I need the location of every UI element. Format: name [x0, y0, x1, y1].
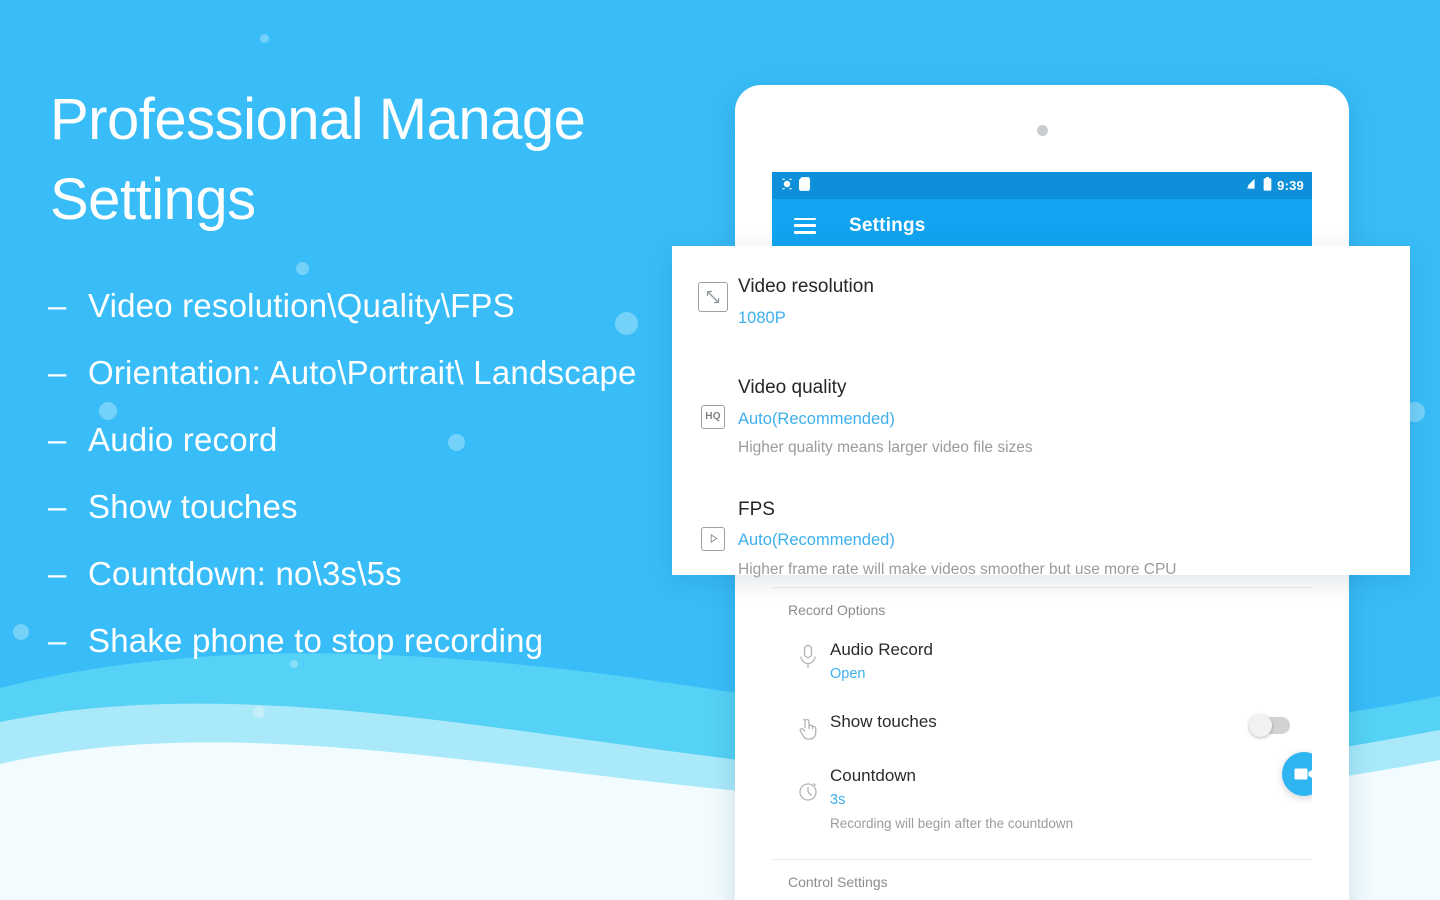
decorative-bubble	[13, 624, 29, 640]
screen-recorder-icon	[780, 177, 794, 194]
hq-icon: HQ	[688, 375, 738, 429]
setting-body: Audio Record Open	[830, 638, 1290, 686]
setting-value: 1080P	[738, 305, 1382, 331]
show-touches-toggle[interactable]	[1252, 717, 1290, 734]
promo-banner: Professional Manage Settings –Video reso…	[0, 0, 1440, 900]
decorative-bubble	[260, 34, 269, 43]
microphone-icon	[786, 638, 830, 670]
setting-title: FPS	[738, 497, 1382, 524]
resolution-icon	[688, 274, 738, 312]
setting-title: Audio Record	[830, 638, 1290, 662]
app-bar: Settings	[772, 199, 1312, 252]
list-item: –Shake phone to stop recording	[48, 607, 728, 674]
list-item-label: Orientation: Auto\Portrait\ Landscape	[88, 354, 637, 391]
sdcard-icon	[799, 177, 810, 194]
touch-hand-icon	[786, 710, 830, 740]
setting-title: Video quality	[738, 375, 1382, 402]
bullet-dash: –	[48, 473, 88, 540]
status-bar-left-icons	[780, 177, 810, 194]
list-item: –Countdown: no\3s\5s	[48, 540, 728, 607]
front-camera-icon	[1037, 125, 1048, 136]
list-item-label: Shake phone to stop recording	[88, 622, 543, 659]
setting-row-fps[interactable]: FPS Auto(Recommended) Higher frame rate …	[672, 491, 1410, 589]
setting-desc: Higher quality means larger video file s…	[738, 436, 1382, 461]
setting-row-audio-record[interactable]: Audio Record Open	[772, 626, 1312, 698]
status-bar: 9:39	[772, 172, 1312, 199]
setting-value: Auto(Recommended)	[738, 406, 1382, 432]
section-label-record-options: Record Options	[772, 588, 1312, 626]
setting-value: 3s	[830, 789, 1290, 812]
signal-off-icon	[1243, 178, 1258, 194]
list-item-label: Countdown: no\3s\5s	[88, 555, 402, 592]
list-item: –Orientation: Auto\Portrait\ Landscape	[48, 339, 728, 406]
decorative-bubble	[253, 706, 265, 718]
setting-body: Countdown 3s Recording will begin after …	[830, 764, 1290, 835]
bullet-dash: –	[48, 406, 88, 473]
feature-list: –Video resolution\Quality\FPS –Orientati…	[48, 272, 728, 674]
section-label-control-settings: Control Settings	[772, 860, 1312, 898]
setting-body: FPS Auto(Recommended) Higher frame rate …	[738, 497, 1382, 583]
setting-row-video-quality[interactable]: HQ Video quality Auto(Recommended) Highe…	[672, 369, 1410, 467]
list-item: –Video resolution\Quality\FPS	[48, 272, 728, 339]
setting-body: Show touches	[830, 710, 1252, 734]
setting-row-show-touches[interactable]: Show touches	[772, 698, 1312, 752]
setting-value: Auto(Recommended)	[738, 527, 1382, 553]
setting-value: Open	[830, 663, 1290, 686]
setting-desc: Higher frame rate will make videos smoot…	[738, 558, 1382, 583]
toggle-knob	[1249, 714, 1272, 737]
resolution-icon-box	[698, 282, 728, 312]
hamburger-icon[interactable]	[794, 218, 816, 234]
status-bar-clock: 9:39	[1277, 178, 1304, 193]
stopwatch-icon	[786, 764, 830, 802]
list-item-label: Audio record	[88, 421, 278, 458]
setting-body: Video quality Auto(Recommended) Higher q…	[738, 375, 1382, 461]
setting-title: Countdown	[830, 764, 1290, 788]
setting-row-countdown[interactable]: Countdown 3s Recording will begin after …	[772, 752, 1312, 847]
fps-play-icon	[688, 497, 738, 551]
status-bar-right-icons: 9:39	[1243, 177, 1304, 194]
bullet-dash: –	[48, 339, 88, 406]
list-item: –Show touches	[48, 473, 728, 540]
setting-title: Video resolution	[738, 274, 1382, 301]
list-item-label: Show touches	[88, 488, 298, 525]
bullet-dash: –	[48, 540, 88, 607]
setting-row-video-resolution[interactable]: Video resolution 1080P	[672, 268, 1410, 337]
fps-play-icon-box	[701, 527, 725, 551]
list-item-label: Video resolution\Quality\FPS	[88, 287, 515, 324]
bullet-dash: –	[48, 272, 88, 339]
setting-title: Show touches	[830, 710, 1252, 734]
setting-body: Video resolution 1080P	[738, 274, 1382, 331]
app-bar-title: Settings	[849, 215, 926, 237]
battery-icon	[1263, 177, 1272, 194]
highlight-overlay-card: Video resolution 1080P HQ Video quality …	[672, 246, 1410, 575]
setting-desc: Recording will begin after the countdown	[830, 813, 1290, 835]
list-item: –Audio record	[48, 406, 728, 473]
bullet-dash: –	[48, 607, 88, 674]
page-title: Professional Manage Settings	[50, 80, 710, 240]
hq-icon-box: HQ	[701, 405, 725, 429]
